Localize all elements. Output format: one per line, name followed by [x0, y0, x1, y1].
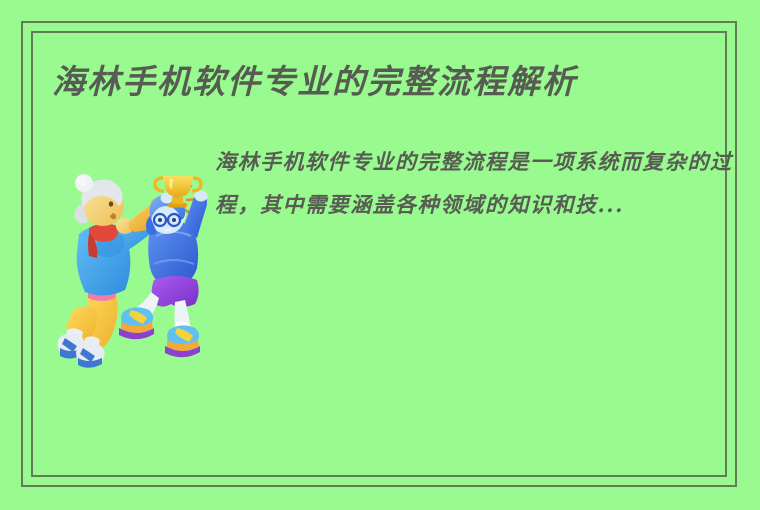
- trophy-character: [119, 176, 208, 357]
- page-title: 海林手机软件专业的完整流程解析: [52, 62, 712, 102]
- poster-card: 海林手机软件专业的完整流程解析 海林手机软件专业的完整流程是一项系统而复杂的过程…: [0, 0, 760, 510]
- illustration-characters: [55, 170, 220, 370]
- body-paragraph: 海林手机软件专业的完整流程是一项系统而复杂的过程，其中需要涵盖各种领域的知识和技…: [215, 140, 733, 226]
